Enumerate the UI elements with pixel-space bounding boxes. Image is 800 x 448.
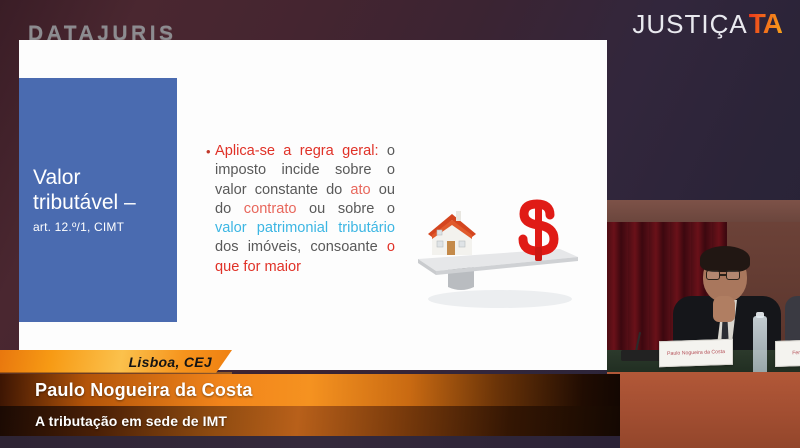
location-label: Lisboa, CEJ (129, 354, 212, 370)
body-segment-5: ou sobre o (297, 201, 395, 217)
video-water-bottle (753, 316, 767, 374)
body-segment-7: dos imóveis, consoante (215, 239, 387, 255)
video-speaker-glasses-left (706, 270, 720, 280)
video-microphone (621, 350, 661, 361)
justica-tv-logo: JUSTIÇA TA (632, 8, 782, 40)
slide-body-text: •Aplica-se a regra geral: o imposto inci… (215, 142, 395, 277)
body-segment-0: Aplica-se a regra geral: (215, 143, 379, 159)
logo-word: JUSTIÇA (632, 9, 747, 40)
body-segment-4: contrato (244, 201, 297, 217)
video-speaker-hair (700, 246, 750, 272)
slide-title: Valor tributável – (33, 166, 163, 216)
video-nameplate-secondary-text: Fernan… (792, 349, 800, 356)
video-table-front (607, 372, 800, 448)
house-and-dollar-seesaw-illustration (412, 183, 584, 317)
speaker-name-band: Paulo Nogueira da Costa (0, 374, 620, 406)
video-speaker-glasses-bridge (720, 274, 726, 276)
slide-title-panel: Valor tributável – art. 12.º/1, CIMT (19, 78, 177, 322)
video-slide-composite: JUSTIÇA TA Valor tributável – art. 12.º/… (0, 0, 800, 448)
slide-title-reference: art. 12.º/1, CIMT (33, 220, 163, 234)
talk-title-band: A tributação em sede de IMT (0, 406, 620, 436)
video-nameplate-primary-text: Paulo Nogueira da Costa (667, 349, 725, 358)
video-nameplate-secondary: Fernan… (775, 339, 800, 367)
lower-third-banner: Lisboa, CEJ Paulo Nogueira da Costa A tr… (0, 345, 620, 448)
lower-third-foot (0, 436, 620, 448)
logo-accent-ta: TA (749, 8, 782, 40)
bullet-icon: • (206, 143, 211, 160)
location-tab: Lisboa, CEJ (0, 350, 232, 373)
presentation-slide: Valor tributável – art. 12.º/1, CIMT •Ap… (19, 40, 607, 370)
speaker-video-panel[interactable]: Paulo Nogueira da Costa Fernan… (607, 200, 800, 448)
video-speaker-glasses-right (726, 270, 740, 280)
body-segment-2: ato (350, 182, 370, 198)
video-speaker-hand (713, 296, 735, 322)
video-nameplate-primary: Paulo Nogueira da Costa (659, 339, 733, 368)
body-segment-6: valor patrimonial tributário (215, 220, 395, 236)
video-wall-upper (607, 200, 800, 222)
speaker-name: Paulo Nogueira da Costa (35, 380, 253, 401)
talk-title: A tributação em sede de IMT (35, 413, 227, 429)
